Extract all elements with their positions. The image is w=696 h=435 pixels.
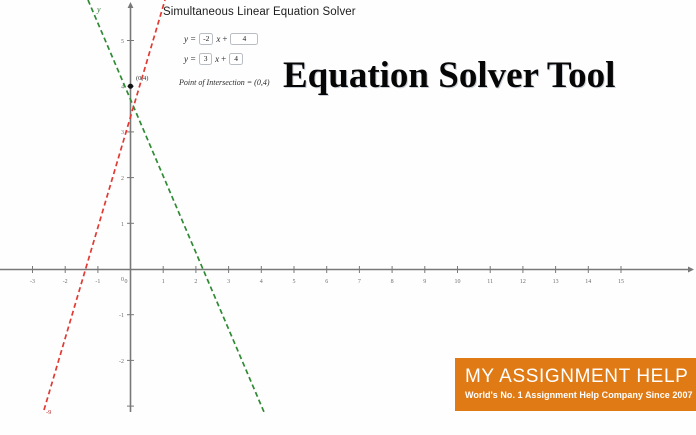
- svg-text:15: 15: [618, 279, 624, 285]
- svg-text:0: 0: [121, 277, 124, 283]
- equation-row-1: y = -2 x + 4: [184, 30, 403, 47]
- svg-text:-1: -1: [119, 313, 124, 319]
- brand-logo[interactable]: MY ASSIGNMENT HELP World's No. 1 Assignm…: [455, 358, 696, 411]
- x-tick-labels: -3 -2 -1 0 1 2 3 4 5 6 7 8 9 10 11 12 13…: [30, 279, 624, 285]
- svg-text:9: 9: [423, 279, 426, 285]
- equation-1-variable: x: [216, 34, 220, 44]
- svg-text:7: 7: [358, 279, 361, 285]
- svg-text:2: 2: [121, 176, 124, 182]
- equation-2-slope-input[interactable]: 3: [199, 53, 212, 65]
- line-series-red[interactable]: [44, 0, 165, 410]
- svg-text:10: 10: [455, 279, 461, 285]
- svg-text:-2: -2: [119, 359, 124, 365]
- svg-text:14: 14: [585, 279, 591, 285]
- svg-text:12: 12: [520, 279, 526, 285]
- equation-2-plus: +: [221, 54, 226, 64]
- equation-2-intercept-input[interactable]: 4: [229, 53, 243, 65]
- svg-text:8: 8: [391, 279, 394, 285]
- svg-text:6: 6: [325, 279, 328, 285]
- equation-1-slope-input[interactable]: -2: [199, 33, 213, 45]
- y-tick-labels: 5 4 3 2 1 0 -1 -2: [119, 39, 124, 365]
- svg-text:3: 3: [227, 279, 230, 285]
- equation-2-variable: x: [215, 54, 219, 64]
- svg-text:-3: -3: [30, 279, 35, 285]
- svg-text:5: 5: [121, 39, 124, 45]
- svg-text:1: 1: [121, 222, 124, 228]
- x-axis-arrow: [688, 267, 694, 273]
- equation-1-equals: =: [190, 34, 196, 44]
- svg-text:2: 2: [194, 279, 197, 285]
- svg-text:-2: -2: [63, 279, 68, 285]
- svg-text:13: 13: [553, 279, 559, 285]
- intersection-point[interactable]: [128, 84, 133, 89]
- svg-text:3: 3: [121, 130, 124, 136]
- svg-text:-1: -1: [95, 279, 100, 285]
- brand-logo-title: MY ASSIGNMENT HELP: [465, 366, 696, 387]
- svg-text:4: 4: [260, 279, 263, 285]
- equation-1-plus: +: [222, 34, 227, 44]
- y-axis-label: y: [96, 5, 101, 14]
- equation-1-lhs: y: [184, 34, 188, 44]
- y-axis-arrow: [128, 2, 134, 8]
- equation-2-equals: =: [190, 54, 196, 64]
- equation-2-lhs: y: [184, 54, 188, 64]
- intersection-point-label: (0,4): [136, 75, 148, 82]
- applet-title: Simultaneous Linear Equation Solver: [163, 6, 403, 18]
- svg-text:0: 0: [125, 279, 128, 285]
- brand-logo-tagline: World's No. 1 Assignment Help Company Si…: [465, 390, 696, 400]
- red-line-endpoint-label: -9: [46, 409, 51, 416]
- page-title: Equation Solver Tool: [283, 54, 615, 97]
- svg-text:11: 11: [487, 279, 493, 285]
- svg-text:4: 4: [121, 85, 124, 91]
- equation-1-intercept-input[interactable]: 4: [230, 33, 258, 45]
- svg-text:5: 5: [293, 279, 296, 285]
- app-canvas: -3 -2 -1 0 1 2 3 4 5 6 7 8 9 10 11 12 13…: [0, 0, 696, 435]
- svg-text:1: 1: [162, 279, 165, 285]
